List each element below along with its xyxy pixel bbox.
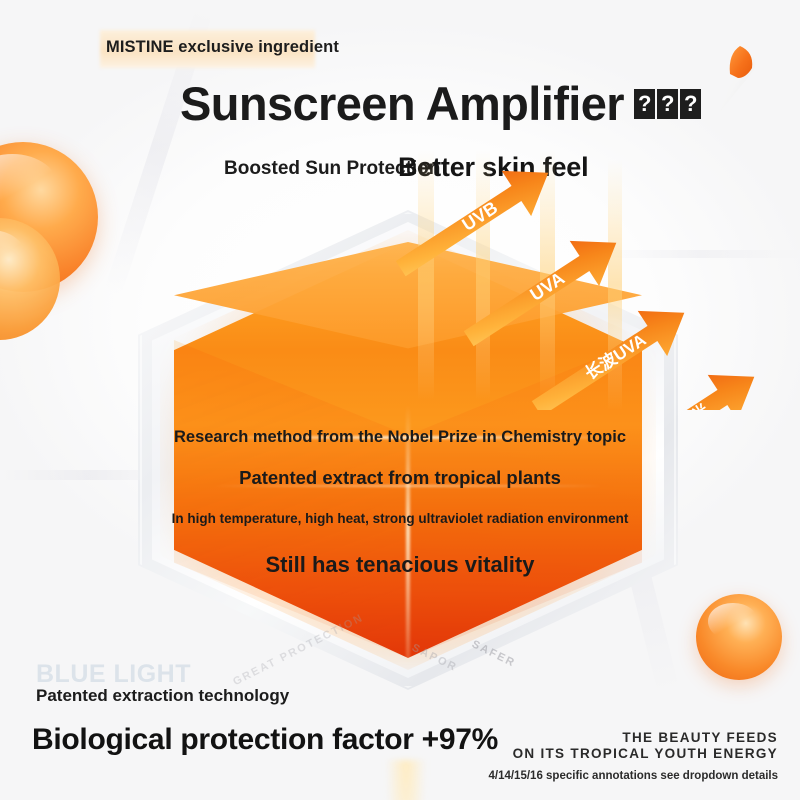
missing-glyph-boxes: ? ? ? [634,89,701,119]
uv-ray-arrows: UVB UVA 长波UVA 高能可见光 [380,150,800,410]
missing-glyph-3: ? [680,89,701,119]
poster-canvas: MISTINE exclusive ingredient Sunscreen A… [0,0,800,800]
footer-protection-factor: Biological protection factor +97% [32,723,498,757]
brand-tagline-line-1: THE BEAUTY FEEDS [488,730,778,746]
kicker-label: MISTINE exclusive ingredient [96,32,347,63]
cube-bottom-flare [386,760,426,800]
footer-patent-label: Patented extraction technology [36,686,289,706]
orange-droplet-icon [706,18,776,114]
missing-glyph-2: ? [657,89,678,119]
page-title: Sunscreen Amplifier ? ? ? [180,76,701,131]
ray-arrow-uvb: UVB [386,150,563,291]
sphere-gloss [0,230,26,284]
page-title-text: Sunscreen Amplifier [180,76,624,131]
sphere-gloss [0,154,59,223]
footer-annotation-note: 4/14/15/16 specific annotations see drop… [488,770,778,782]
sphere-gloss [708,603,758,641]
ray-label-hevl: 高能可见光 [639,400,712,410]
footer-ghost-text: BLUE LIGHT [36,660,191,689]
brand-tagline-line-2: ON ITS TROPICAL YOUTH ENERGY [488,746,778,762]
orange-sphere-right [696,594,782,680]
footer-brand-block: THE BEAUTY FEEDS ON ITS TROPICAL YOUTH E… [488,730,778,782]
missing-glyph-1: ? [634,89,655,119]
kicker-block: MISTINE exclusive ingredient [96,32,347,63]
